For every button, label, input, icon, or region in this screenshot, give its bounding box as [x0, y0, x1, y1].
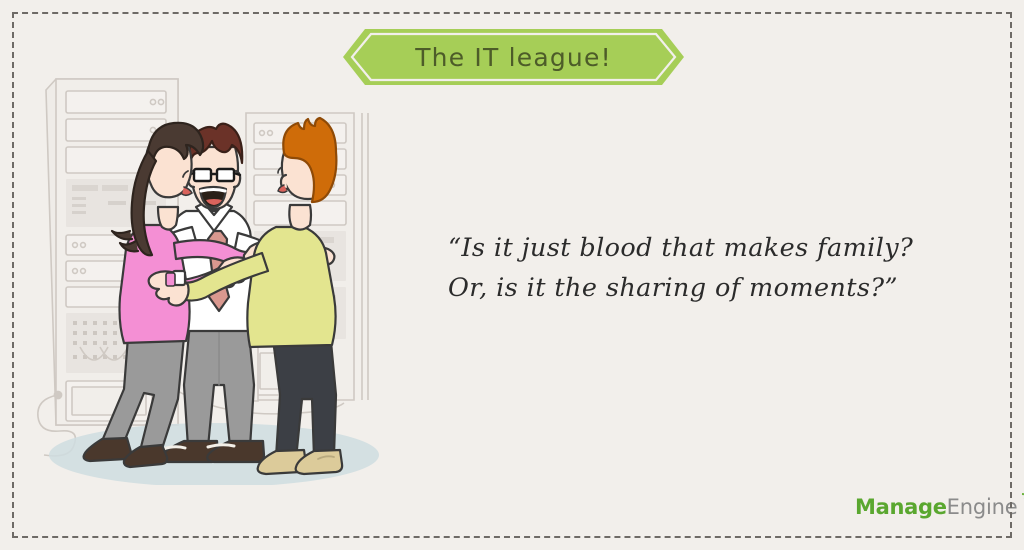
illustration-scene — [18, 55, 458, 485]
quote-line-2: Or, is it the sharing of moments?” — [448, 268, 968, 308]
quote-line-1: “Is it just blood that makes family? — [448, 228, 968, 268]
banner-title: The IT league! — [343, 29, 684, 85]
quote-block: “Is it just blood that makes family? Or,… — [448, 228, 968, 308]
manageengine-logo: Manage Engine — [855, 492, 1024, 522]
arc-swoosh-icon — [1018, 492, 1024, 522]
poster-canvas: The IT league! “Is it just blood that ma… — [0, 0, 1024, 550]
banner-ribbon: The IT league! — [343, 29, 684, 85]
logo-engine-text: Engine — [947, 495, 1018, 519]
logo-manage-text: Manage — [855, 495, 947, 519]
